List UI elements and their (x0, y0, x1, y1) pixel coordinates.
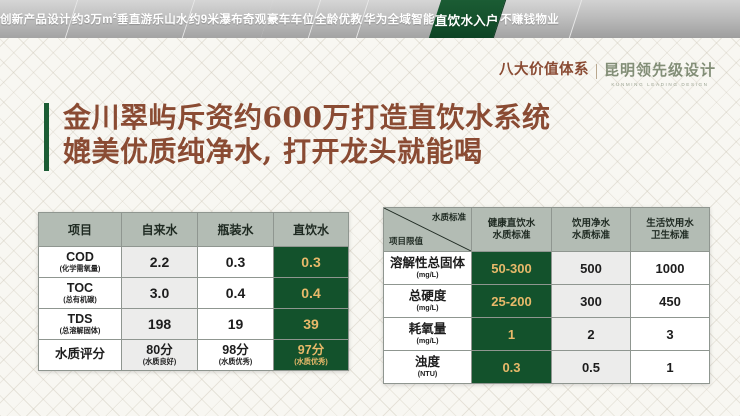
row-label-sub: (总溶解固体) (39, 327, 121, 335)
table-header-row: 项目 自来水 瓶装水 直饮水 (39, 213, 349, 247)
row-label-tds-dissolved: 溶解性总固体 (mg/L) (384, 252, 472, 285)
row-label-unit: (mg/L) (384, 271, 471, 279)
cell-turbidity-purified: 0.5 (552, 351, 631, 384)
cell-hardness-healthy: 25-200 (472, 285, 552, 318)
cell-oxygen-domestic: 3 (631, 318, 710, 351)
row-label-main: TOC (39, 282, 121, 295)
nav-tab-label: 约9米瀑布奇观 (189, 11, 267, 27)
cell-hardness-domestic: 450 (631, 285, 710, 318)
row-label-toc: TOC (总有机碳) (39, 278, 122, 309)
cell-oxygen-purified: 2 (552, 318, 631, 351)
row-label-unit: (NTU) (384, 370, 471, 378)
brand-lockup: 八大价值体系 昆明领先级设计 KUNMING LEADING DESIGN (499, 62, 716, 87)
row-label-main: 总硬度 (384, 290, 471, 303)
headline-line-1: 金川翠屿斥资约600万打造直饮水系统 (63, 101, 550, 135)
col-header-purified-standard: 饮用净水 水质标准 (552, 208, 631, 252)
cell-score-bottled: 98分 (水质优秀) (198, 340, 274, 371)
cell-turbidity-healthy: 0.3 (472, 351, 552, 384)
nav-tab-label: 创新产品设计 (0, 11, 71, 27)
col-header-healthy-direct-standard: 健康直饮水 水质标准 (472, 208, 552, 252)
slide-canvas: 创新产品设计 约3万m2垂直游乐山水 约9米瀑布奇观 豪车车位 全龄优教 华为全… (0, 0, 740, 416)
corner-header-bottom-label: 项目限值 (389, 236, 423, 247)
col-header-line-1: 健康直饮水 (472, 218, 551, 230)
cell-cod-direct: 0.3 (274, 247, 349, 278)
row-label-main: 水质评分 (39, 348, 121, 361)
brand-divider (596, 64, 597, 79)
cell-toc-tap: 3.0 (122, 278, 198, 309)
nav-tab-label: 全龄优教 (315, 11, 362, 27)
row-label-sub: (化学需氧量) (39, 265, 121, 273)
feature-nav-bar: 创新产品设计 约3万m2垂直游乐山水 约9米瀑布奇观 豪车车位 全龄优教 华为全… (0, 0, 740, 38)
nav-tab-innovative-design[interactable]: 创新产品设计 (0, 0, 78, 38)
score-note: (水质良好) (122, 358, 197, 366)
row-label-unit: (mg/L) (384, 337, 471, 345)
col-header-line-2: 水质标准 (552, 230, 630, 242)
score-value: 80分 (122, 344, 197, 357)
table-row: TOC (总有机碳) 3.0 0.4 0.4 (39, 278, 349, 309)
nav-tab-label: 不赚钱物业 (500, 11, 559, 27)
score-value: 97分 (274, 344, 348, 357)
cell-cod-bottled: 0.3 (198, 247, 274, 278)
cell-tds-direct: 39 (274, 309, 349, 340)
water-comparison-table: 项目 自来水 瓶装水 直饮水 COD (化学需氧量) 2.2 0.3 0.3 T… (38, 212, 349, 371)
nav-tab-huawei-smart[interactable]: 华为全域智能 (357, 0, 441, 38)
table-row: 浊度 (NTU) 0.3 0.5 1 (384, 351, 710, 384)
table-row: 水质评分 80分 (水质良好) 98分 (水质优秀) 97分 (水质优秀) (39, 340, 349, 371)
cell-toc-bottled: 0.4 (198, 278, 274, 309)
brand-subtitle-english: KUNMING LEADING DESIGN (611, 82, 708, 87)
nav-tab-direct-drinking-water[interactable]: 直饮水入户 (429, 0, 506, 38)
cell-tds-bottled: 19 (198, 309, 274, 340)
col-header-domestic-standard: 生活饮用水 卫生标准 (631, 208, 710, 252)
brand-subtitle: 昆明领先级设计 (604, 62, 716, 79)
cell-turbidity-domestic: 1 (631, 351, 710, 384)
col-header-line-2: 水质标准 (472, 230, 551, 242)
row-label-main: 耗氧量 (384, 323, 471, 336)
row-label-oxygen-consumption: 耗氧量 (mg/L) (384, 318, 472, 351)
cell-tds-healthy: 50-300 (472, 252, 552, 285)
nav-tab-vertical-landscape[interactable]: 约3万m2垂直游乐山水 (66, 0, 195, 38)
row-label-sub: (总有机碳) (39, 296, 121, 304)
cell-oxygen-healthy: 1 (472, 318, 552, 351)
nav-tab-label: 华为全域智能 (364, 11, 435, 27)
score-value: 98分 (198, 344, 273, 357)
row-label-turbidity: 浊度 (NTU) (384, 351, 472, 384)
col-header-line-2: 卫生标准 (631, 230, 709, 242)
score-note: (水质优秀) (198, 358, 273, 366)
row-label-tds: TDS (总溶解固体) (39, 309, 122, 340)
cell-hardness-purified: 300 (552, 285, 631, 318)
col-header-direct-drinking-water: 直饮水 (274, 213, 349, 247)
table-row: 溶解性总固体 (mg/L) 50-300 500 1000 (384, 252, 710, 285)
corner-header-cell: 水质标准 项目限值 (384, 208, 472, 252)
table-row: 总硬度 (mg/L) 25-200 300 450 (384, 285, 710, 318)
table-row: TDS (总溶解固体) 198 19 39 (39, 309, 349, 340)
brand-main-title: 八大价值体系 (499, 62, 589, 79)
nav-tab-label: 约3万m2垂直游乐山水 (72, 11, 188, 27)
cell-tds-tap: 198 (122, 309, 198, 340)
headline-accent-bar (44, 103, 49, 171)
col-header-item: 项目 (39, 213, 122, 247)
table-header-row: 水质标准 项目限值 健康直饮水 水质标准 饮用净水 水质标准 生活饮用水 卫生标… (384, 208, 710, 252)
row-label-main: 溶解性总固体 (384, 257, 471, 270)
water-standards-table: 水质标准 项目限值 健康直饮水 水质标准 饮用净水 水质标准 生活饮用水 卫生标… (383, 207, 710, 384)
cell-toc-direct: 0.4 (274, 278, 349, 309)
col-header-line-1: 饮用净水 (552, 218, 630, 230)
cell-tds-purified: 500 (552, 252, 631, 285)
cell-tds-domestic: 1000 (631, 252, 710, 285)
col-header-bottled-water: 瓶装水 (198, 213, 274, 247)
headline-line-2: 媲美优质纯净水, 打开龙头就能喝 (63, 135, 550, 169)
col-header-line-1: 生活饮用水 (631, 218, 709, 230)
row-label-water-score: 水质评分 (39, 340, 122, 371)
cell-cod-tap: 2.2 (122, 247, 198, 278)
row-label-main: 浊度 (384, 356, 471, 369)
corner-header-top-label: 水质标准 (432, 212, 466, 223)
headline-block: 金川翠屿斥资约600万打造直饮水系统 媲美优质纯净水, 打开龙头就能喝 (44, 101, 550, 171)
nav-tab-label: 豪车车位 (267, 11, 314, 27)
page-title: 金川翠屿斥资约600万打造直饮水系统 媲美优质纯净水, 打开龙头就能喝 (63, 101, 550, 171)
row-label-cod: COD (化学需氧量) (39, 247, 122, 278)
table-row: COD (化学需氧量) 2.2 0.3 0.3 (39, 247, 349, 278)
col-header-tap-water: 自来水 (122, 213, 198, 247)
brand-subtitle-group: 昆明领先级设计 KUNMING LEADING DESIGN (604, 62, 716, 87)
table-row: 耗氧量 (mg/L) 1 2 3 (384, 318, 710, 351)
row-label-total-hardness: 总硬度 (mg/L) (384, 285, 472, 318)
cell-score-direct: 97分 (水质优秀) (274, 340, 349, 371)
nav-tab-property-management[interactable]: 不赚钱物业 (494, 0, 582, 38)
nav-tab-label: 直饮水入户 (435, 10, 499, 29)
score-note: (水质优秀) (274, 358, 348, 366)
nav-tab-waterfall[interactable]: 约9米瀑布奇观 (182, 0, 273, 38)
row-label-unit: (mg/L) (384, 304, 471, 312)
row-label-main: COD (39, 251, 121, 264)
superscript-2: 2 (113, 13, 117, 20)
cell-score-tap: 80分 (水质良好) (122, 340, 198, 371)
row-label-main: TDS (39, 313, 121, 326)
